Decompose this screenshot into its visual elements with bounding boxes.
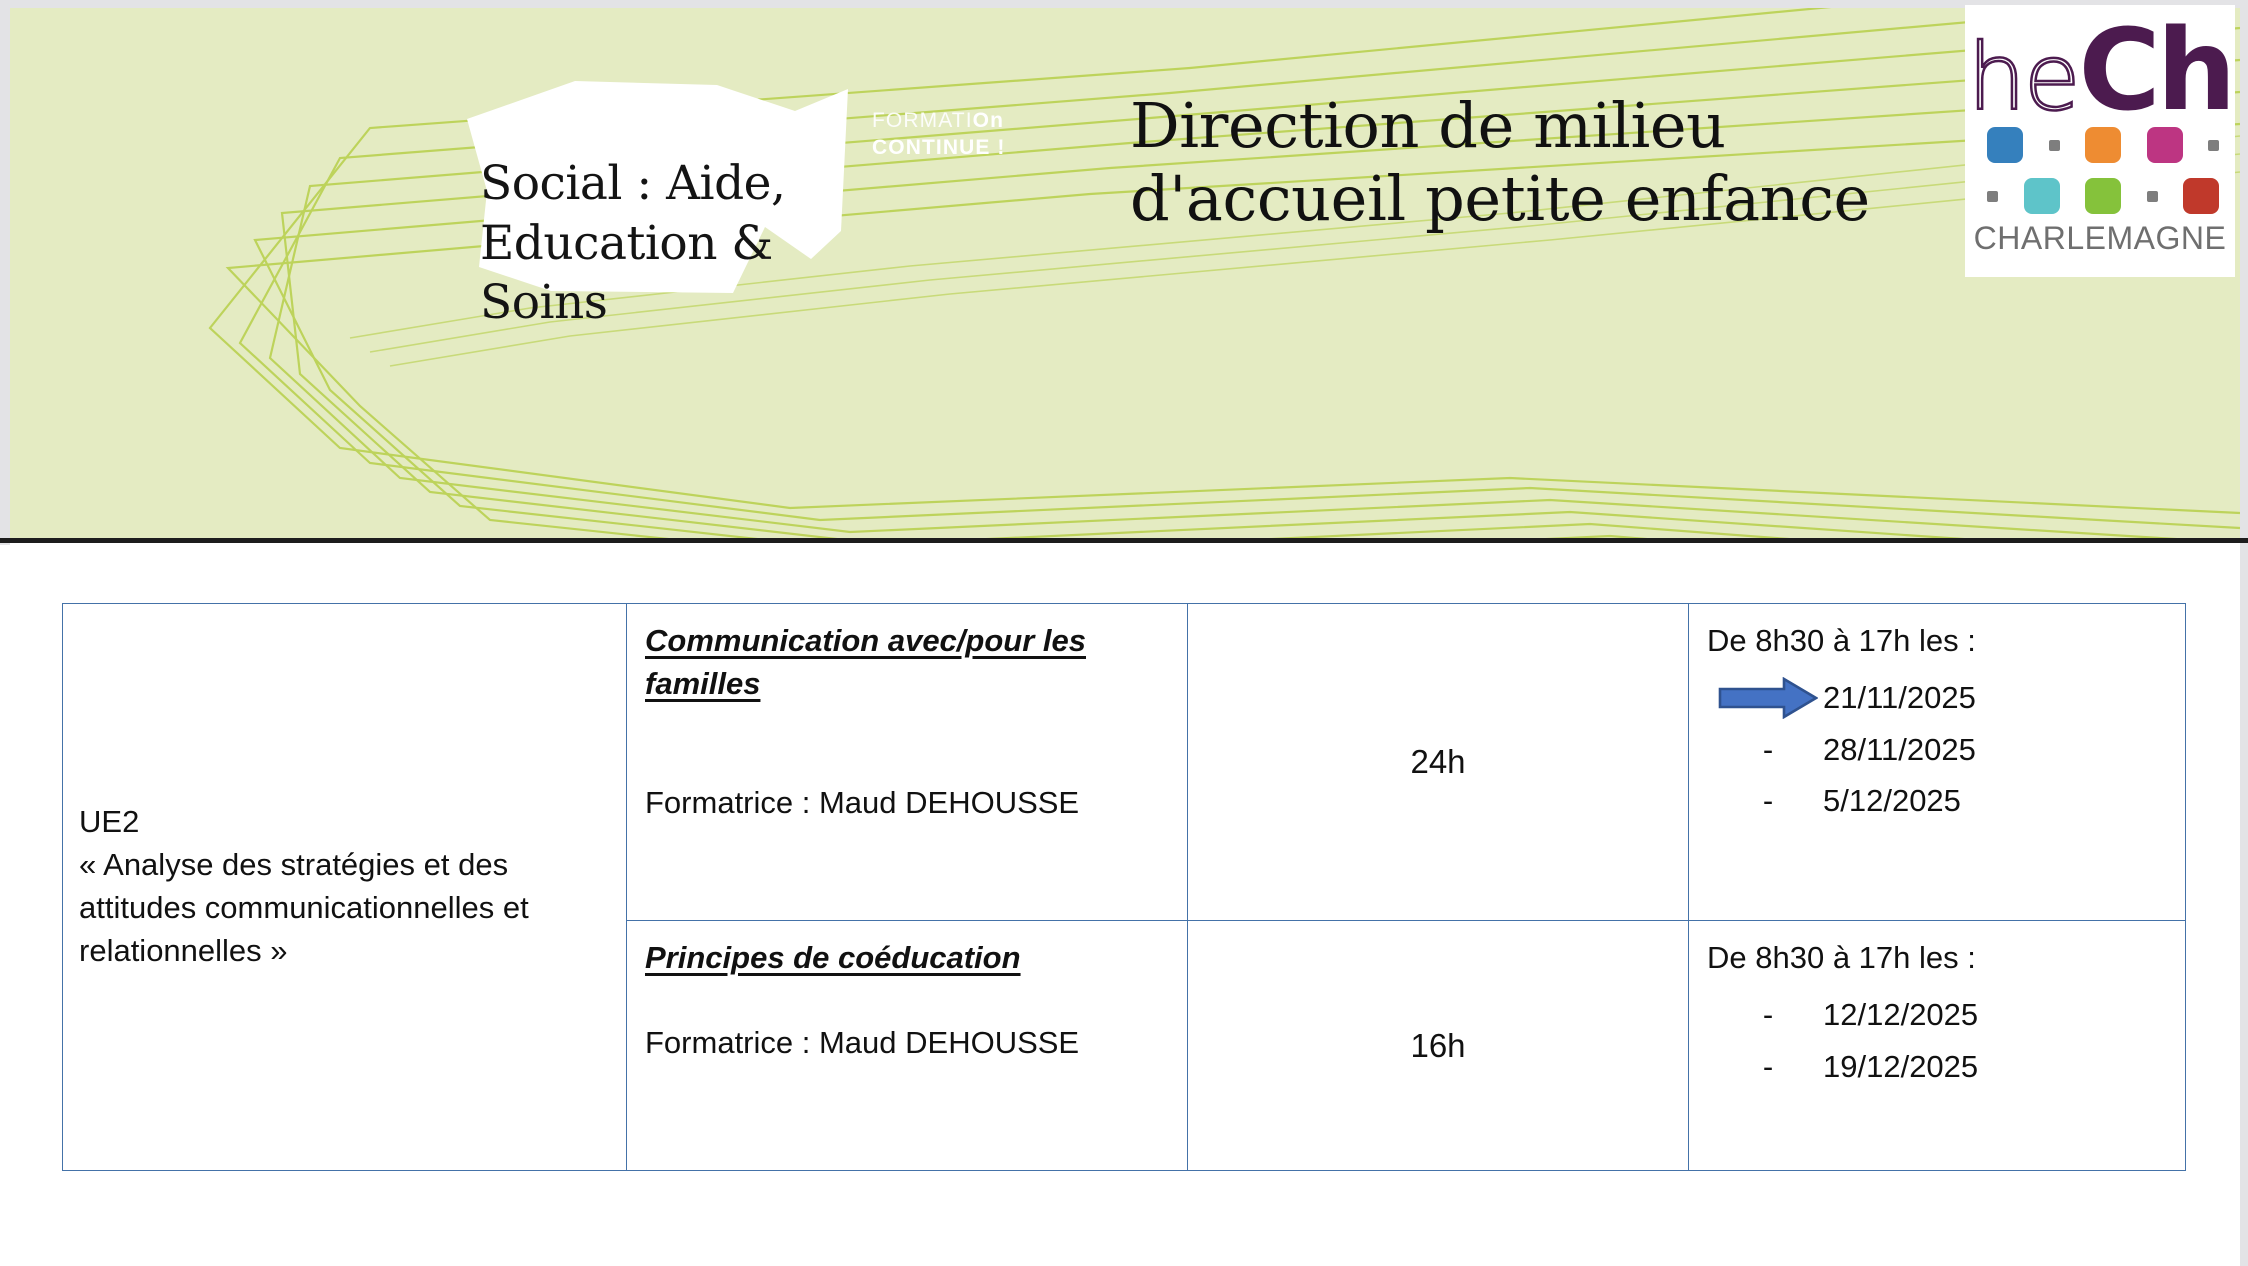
page-title-line1: Direction de milieu [1130, 90, 2010, 163]
schedule-table: UE2 « Analyse des stratégies et des atti… [62, 603, 2186, 1171]
hours-value-2: 16h [1188, 921, 1688, 1170]
stamp-line1-bold: On [973, 109, 1004, 132]
hech-charlemagne-logo: heCh CHARLEMAGNE [1965, 5, 2235, 277]
logo-swatch-green [2085, 178, 2121, 214]
page-margin-left [0, 0, 10, 545]
page-margin-right [2240, 0, 2248, 1266]
logo-dot-gray-4 [2147, 191, 2158, 202]
stamp-line2: CONTINUE ! [872, 135, 1006, 162]
logo-swatch-row-1 [1987, 127, 2219, 163]
banner-bottom-rule [0, 538, 2248, 543]
logo-institution-name: CHARLEMAGNE [1965, 220, 2235, 257]
slide-canvas: Social : Aide, Education & Soins FORMATI… [0, 0, 2248, 1266]
logo-swatch-orange [2085, 127, 2121, 163]
cell-course-2: Principes de coéducation Formatrice : Ma… [627, 920, 1188, 1170]
date-bullet-dash: - [1713, 1046, 1823, 1089]
logo-swatch-row-2 [1987, 178, 2219, 214]
date-row: - 5/12/2025 [1707, 780, 2167, 823]
table-row: UE2 « Analyse des stratégies et des atti… [63, 604, 2186, 921]
logo-ch-text: Ch [2078, 6, 2232, 136]
cell-unit: UE2 « Analyse des stratégies et des atti… [63, 604, 627, 1171]
arrow-right-icon [1718, 677, 1818, 719]
date-value: 19/12/2025 [1823, 1046, 2167, 1089]
logo-dot-gray-2 [2208, 140, 2219, 151]
date-value: 12/12/2025 [1823, 994, 2167, 1037]
unit-code: UE2 [79, 801, 610, 844]
dates-intro-2: De 8h30 à 17h les : [1707, 937, 2167, 980]
logo-swatch-magenta [2147, 127, 2183, 163]
cell-dates-1: De 8h30 à 17h les : 21/11/2025 [1689, 604, 2186, 921]
logo-wordmark: heCh [1965, 15, 2235, 127]
date-row: - 12/12/2025 [1707, 994, 2167, 1037]
page-title-line2: d'accueil petite enfance [1130, 163, 2010, 236]
decorative-polyline-pattern [10, 8, 2240, 538]
stamp-line1-thin: FORMATI [872, 109, 973, 132]
page-margin-top [0, 0, 2248, 8]
logo-he-text: he [1968, 24, 2079, 131]
date-row: - 28/11/2025 [1707, 729, 2167, 772]
date-row: - 19/12/2025 [1707, 1046, 2167, 1089]
logo-swatch-blue [1987, 127, 2023, 163]
schedule-table-container: UE2 « Analyse des stratégies et des atti… [62, 603, 2186, 1171]
unit-name: « Analyse des stratégies et des attitude… [79, 844, 610, 972]
hours-value-1: 24h [1188, 604, 1688, 920]
date-row: 21/11/2025 [1707, 677, 2167, 720]
logo-dot-gray-1 [2049, 140, 2060, 151]
course-title-1: Communication avec/pour les familles [645, 620, 1169, 706]
logo-dot-gray-3 [1987, 191, 1998, 202]
cell-hours-1: 24h [1188, 604, 1689, 921]
cell-hours-2: 16h [1188, 920, 1689, 1170]
logo-swatch-red [2183, 178, 2219, 214]
formation-continue-stamp: FORMATIOn CONTINUE ! [872, 108, 1006, 162]
course-title-2: Principes de coéducation [645, 937, 1169, 980]
logo-swatch-teal [2024, 178, 2060, 214]
course-trainer-1: Formatrice : Maud DEHOUSSE [645, 782, 1169, 825]
date-bullet-arrow [1713, 677, 1823, 719]
page-title: Direction de milieu d'accueil petite enf… [1130, 90, 2010, 235]
dates-intro-1: De 8h30 à 17h les : [1707, 620, 2167, 663]
date-value: 28/11/2025 [1823, 729, 2167, 772]
date-value: 5/12/2025 [1823, 780, 2167, 823]
date-bullet-dash: - [1713, 729, 1823, 772]
cell-dates-2: De 8h30 à 17h les : - 12/12/2025 - 19/12… [1689, 920, 2186, 1170]
course-trainer-2: Formatrice : Maud DEHOUSSE [645, 1022, 1169, 1065]
date-bullet-dash: - [1713, 994, 1823, 1037]
cell-course-1: Communication avec/pour les familles For… [627, 604, 1188, 921]
date-value: 21/11/2025 [1823, 677, 2167, 720]
paper-card-title: Social : Aide, Education & Soins [480, 154, 840, 333]
date-bullet-dash: - [1713, 780, 1823, 823]
header-banner: Social : Aide, Education & Soins FORMATI… [10, 8, 2240, 538]
